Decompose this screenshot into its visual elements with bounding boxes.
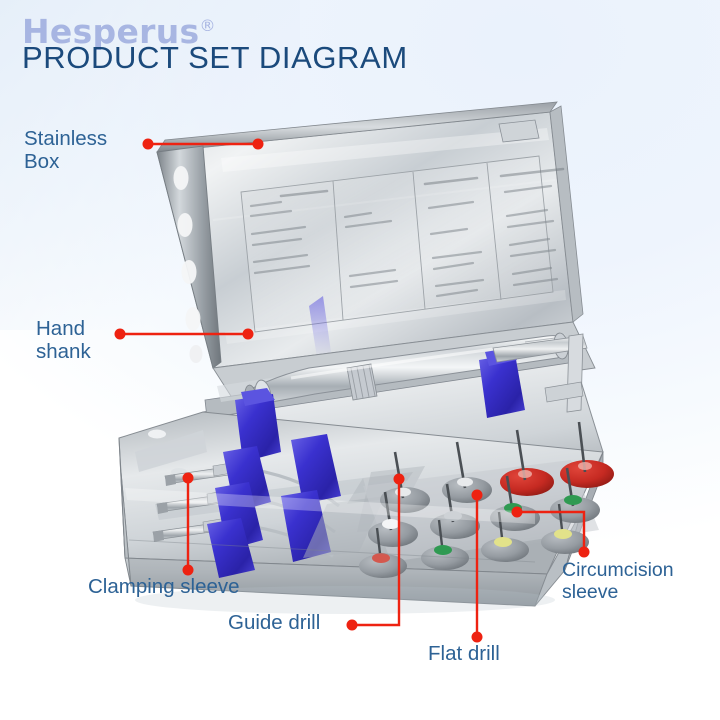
product-photo (95, 100, 635, 610)
page-title: PRODUCT SET DIAGRAM (22, 40, 408, 76)
annotation-flat-drill: Flat drill (428, 643, 500, 666)
registered-mark-icon: ® (199, 16, 215, 35)
annotation-clamping-sleeve: Clamping sleeve (88, 576, 240, 599)
annotation-stainless-box: Stainless Box (24, 128, 107, 174)
box-lid (157, 102, 583, 368)
diagram-canvas: Hesperus® PRODUCT SET DIAGRAM (0, 0, 720, 720)
annotation-hand-shank: Hand shank (36, 318, 91, 364)
annotation-guide-drill: Guide drill (228, 612, 320, 635)
annotation-circumcision-sleeve: Circumcision sleeve (562, 560, 674, 604)
box-body (119, 322, 614, 606)
